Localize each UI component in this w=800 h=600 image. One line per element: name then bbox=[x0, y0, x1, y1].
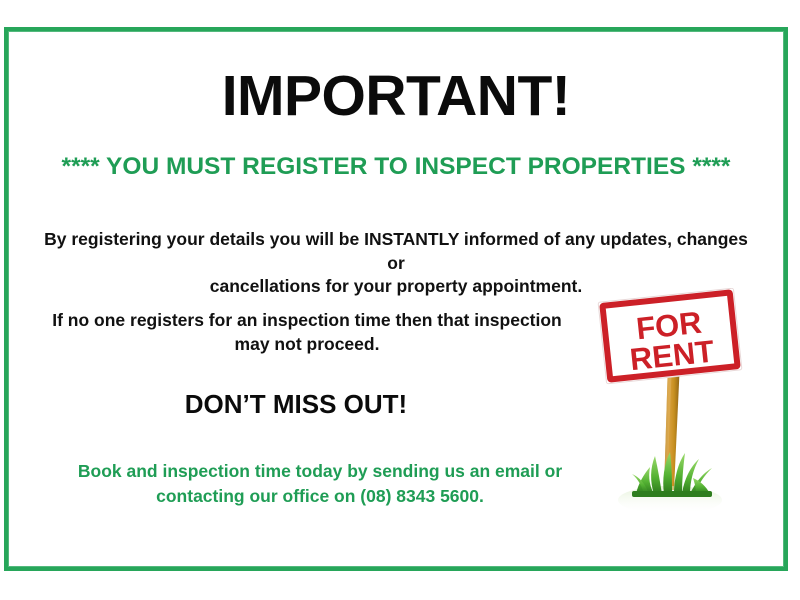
for-rent-board: FOR RENT bbox=[598, 288, 742, 384]
instant-updates-line-1: By registering your details you will be … bbox=[39, 228, 753, 275]
booking-contact-line-1: Book and inspection time today by sendin… bbox=[33, 459, 607, 484]
page-title: IMPORTANT! bbox=[9, 68, 783, 125]
no-registration-line-2: may not proceed. bbox=[31, 333, 583, 357]
for-rent-sign-icon: FOR RENT bbox=[592, 288, 772, 538]
no-registration-line-1: If no one registers for an inspection ti… bbox=[31, 309, 583, 333]
register-requirement-subheading: **** YOU MUST REGISTER TO INSPECT PROPER… bbox=[9, 154, 783, 181]
rental-inspection-flyer: IMPORTANT! **** YOU MUST REGISTER TO INS… bbox=[0, 0, 800, 600]
booking-contact-line-2: contacting our office on (08) 8343 5600. bbox=[33, 484, 607, 509]
